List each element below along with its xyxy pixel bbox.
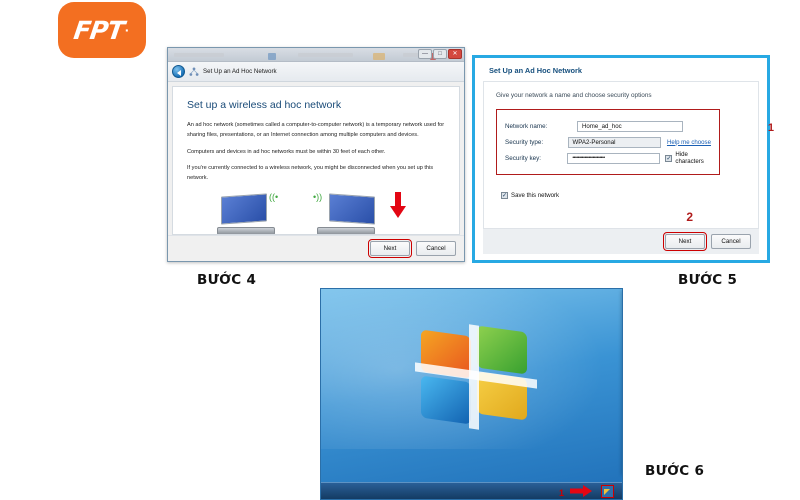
tray-clock [616,489,620,495]
security-type-label: Security type: [505,139,568,146]
wizard-titlebar-label: Set Up an Ad Hoc Network [203,68,277,75]
wifi-signal-icon: ((• [269,193,278,202]
fpt-logo: FPT · [58,2,146,58]
cancel-button[interactable]: Cancel [416,241,456,256]
annotation-marker-1: 1 [559,488,564,498]
dialog2-title: Set Up an Ad Hoc Network [475,58,767,81]
network-wizard-icon [189,67,199,77]
next-button[interactable]: Next [370,241,410,256]
wizard-paragraph-2: Computers and devices in ad hoc networks… [187,148,445,158]
step-4-caption: BƯỚC 4 [197,272,256,288]
laptop-right-icon: •)) [317,195,379,235]
window-titlebar: — □ ✕ [168,48,464,62]
laptop-illustration: ((• •)) [187,191,445,235]
security-type-row: Security type: WPA2-Personal Help me cho… [505,136,711,148]
fpt-logo-dot: · [125,22,130,38]
security-type-select[interactable]: WPA2-Personal [568,137,661,148]
network-settings-group: Network name: Home_ad_hoc Security type:… [496,109,720,175]
wifi-signal-icon: •)) [313,193,322,202]
wizard-paragraph-3: If you're currently connected to a wirel… [187,164,445,184]
laptop-left-icon: ((• [217,195,279,235]
hide-characters-checkbox[interactable]: ✓ Hide characters [665,151,711,165]
back-arrow-icon[interactable] [172,65,185,78]
wizard-footer: Next Cancel [168,235,464,261]
windows-taskbar[interactable]: 1 [321,482,622,499]
red-arrow-down-annotation [390,192,406,218]
checkbox-mark-icon: ✓ [665,155,672,162]
network-name-input[interactable]: Home_ad_hoc [577,121,683,132]
step-6-caption: BƯỚC 6 [645,463,704,479]
dialog2-content: Give your network a name and choose secu… [483,81,759,231]
security-key-row: Security key: •••••••••••••••••••••••• ✓… [505,152,711,164]
security-key-input[interactable]: •••••••••••••••••••••••• [567,153,660,164]
window-controls[interactable]: — □ ✕ [418,49,462,59]
wizard-heading: Set up a wireless ad hoc network [187,99,445,111]
security-key-label: Security key: [505,155,567,162]
windows-logo-icon [421,329,531,421]
hide-characters-label: Hide characters [675,151,711,165]
help-me-choose-link[interactable]: Help me choose [667,139,711,146]
network-flyout-panel[interactable]: Currently connected to: ↻ Unidentified n… [622,289,623,474]
next-button[interactable]: Next [665,234,705,249]
red-arrow-right-annotation [570,485,592,497]
wizard-paragraph-1: An ad hoc network (sometimes called a co… [187,121,445,141]
fpt-logo-text: FPT [72,16,126,45]
annotation-marker-2: 2 [686,210,693,224]
adhoc-wizard-window-step5[interactable]: Set Up an Ad Hoc Network Give your netwo… [472,55,770,263]
annotation-marker-1: 1 [768,122,774,134]
network-name-label: Network name: [505,123,577,130]
save-this-network-checkbox[interactable]: ✓ Save this network [501,192,559,199]
network-name-row: Network name: Home_ad_hoc [505,120,711,132]
dialog2-footer: Next Cancel [483,228,759,254]
cancel-button[interactable]: Cancel [711,234,751,249]
save-network-row: ✓ Save this network [496,184,746,202]
adhoc-wizard-window-step4[interactable]: — □ ✕ Set Up an Ad Hoc Network Set up a … [167,47,465,262]
desktop-screenshot-step6: Currently connected to: ↻ Unidentified n… [320,288,623,500]
minimize-button[interactable]: — [418,49,432,59]
wizard-navbar: Set Up an Ad Hoc Network [168,62,464,82]
dialog2-subtitle: Give your network a name and choose secu… [496,92,746,99]
system-tray[interactable] [602,484,620,499]
wizard-content: Set up a wireless ad hoc network An ad h… [172,86,460,235]
save-this-network-label: Save this network [511,192,559,199]
network-tray-icon[interactable] [602,486,613,497]
maximize-button[interactable]: □ [433,49,447,59]
checkbox-mark-icon: ✓ [501,192,508,199]
navbar-ghost-text [281,69,283,75]
close-button[interactable]: ✕ [448,49,462,59]
step-5-caption: BƯỚC 5 [678,272,737,288]
